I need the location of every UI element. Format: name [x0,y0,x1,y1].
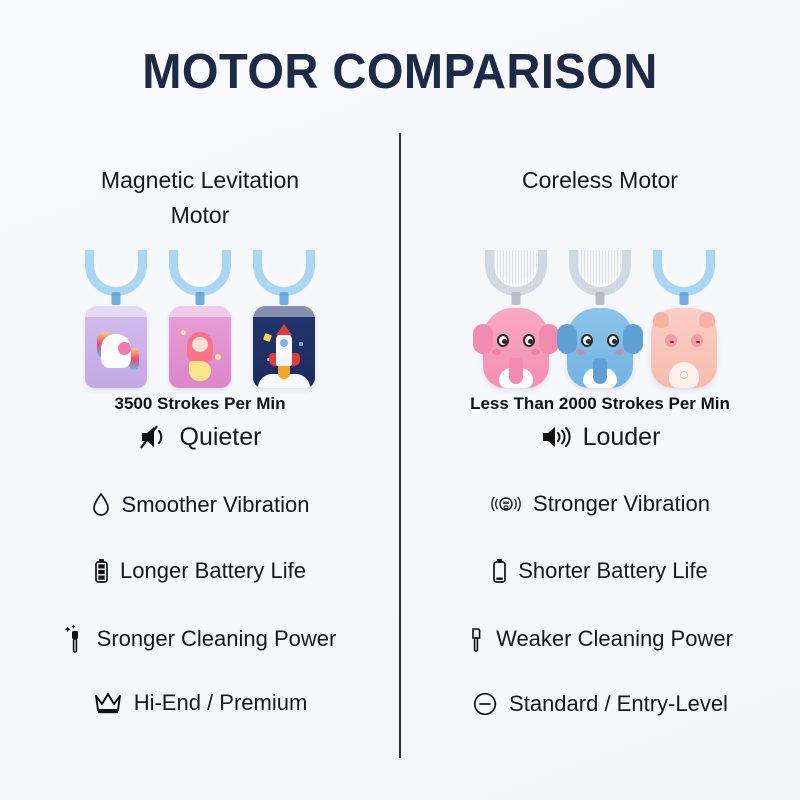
product-mermaid-toothbrush [162,248,238,388]
feature-row-vibration-right: Stronger Vibration [400,492,800,516]
comparison-column-magnetic-levitation: Magnetic Levitation Motor [0,0,400,800]
u-brush-head-icon [653,250,715,296]
product-image-group-left [0,248,400,388]
speaker-mute-icon [139,424,169,450]
toothbrush-handle [483,308,549,388]
feature-label: Stronger Vibration [533,493,710,515]
toothbrush-handle [253,306,315,388]
product-rocket-toothbrush [246,248,322,388]
feature-label: Hi-End / Premium [134,692,308,714]
feature-label: Smoother Vibration [122,494,310,516]
speaker-loud-icon [540,424,572,450]
minus-circle-icon [472,691,498,717]
column-header-magnetic-levitation: Magnetic Levitation Motor [20,163,380,233]
strokes-per-min-right: Less Than 2000 Strokes Per Min [400,394,800,414]
feature-label: Shorter Battery Life [518,560,708,582]
product-unicorn-toothbrush [78,248,154,388]
toothbrush-icon [467,624,485,654]
u-brush-head-icon [85,250,147,296]
column-header-line1: Coreless Motor [420,163,780,198]
strokes-per-min-left: 3500 Strokes Per Min [0,394,400,414]
feature-row-vibration-left: Smoother Vibration [0,492,400,518]
column-header-line1: Magnetic Levitation [20,163,380,198]
product-image-group-right [400,248,800,388]
vibration-face-icon [490,492,522,516]
column-header-coreless-motor: Coreless Motor [420,163,780,198]
feature-row-cleaning-left: Sronger Cleaning Power [0,624,400,654]
toothbrush-handle [567,308,633,388]
feature-row-battery-left: Longer Battery Life [0,558,400,584]
feature-label: Standard / Entry-Level [509,693,728,715]
feature-label: Louder [583,425,661,450]
toothbrush-handle [169,306,231,388]
product-blue-elephant-toothbrush [562,248,638,388]
feature-row-tier-right: Standard / Entry-Level [400,691,800,717]
feature-row-noise-right: Louder [400,424,800,450]
feature-label: Sronger Cleaning Power [97,628,337,650]
feature-row-noise-left: Quieter [0,424,400,450]
product-pink-pig-toothbrush [646,248,722,388]
u-brush-head-icon [485,250,547,296]
feature-label: Weaker Cleaning Power [496,628,733,650]
toothbrush-handle [85,306,147,388]
comparison-column-coreless-motor: Coreless Motor [400,0,800,800]
u-brush-head-icon [253,250,315,296]
u-brush-head-icon [569,250,631,296]
feature-row-battery-right: Shorter Battery Life [400,558,800,584]
feature-row-tier-left: Hi-End / Premium [0,691,400,715]
sparkle-toothbrush-icon [64,624,86,654]
battery-empty-icon [492,558,507,584]
toothbrush-handle [651,308,717,388]
column-header-line2: Motor [20,198,380,233]
crown-icon [93,691,123,715]
feature-label: Longer Battery Life [120,560,306,582]
feature-row-cleaning-right: Weaker Cleaning Power [400,624,800,654]
feature-label: Quieter [180,425,262,450]
product-pink-elephant-toothbrush [478,248,554,388]
water-drop-icon [91,492,111,518]
battery-full-icon [94,558,109,584]
u-brush-head-icon [169,250,231,296]
